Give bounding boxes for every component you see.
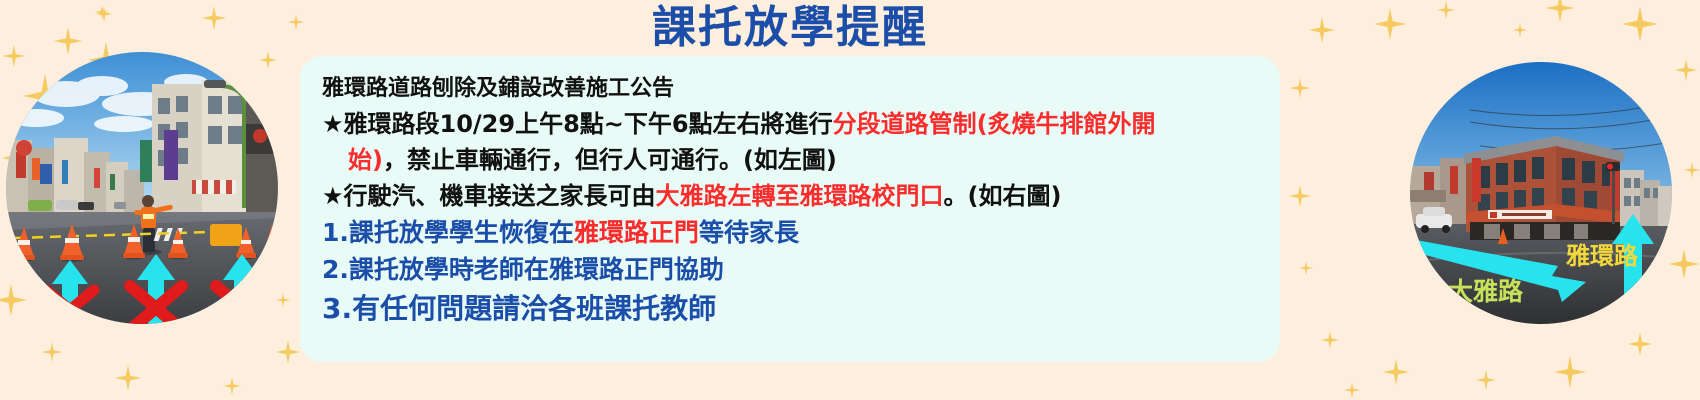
item-2-number: 2. xyxy=(322,255,349,284)
item-3-number: 3. xyxy=(322,292,352,325)
announcement-card: 雅環路道路刨除及鋪設改善施工公告 ★雅環路段10/29上午8點~下午6點左右將進… xyxy=(300,56,1280,362)
announcement-item-2: 2.課托放學時老師在雅環路正門協助 xyxy=(322,251,1262,288)
label-da-ya-road: 大雅路 xyxy=(1448,277,1524,306)
right-photo-intersection: 大雅路 雅環路 xyxy=(1410,62,1672,324)
bullet-1-cont-highlight: 始) xyxy=(348,146,383,174)
item-1-highlight: 雅環路正門 xyxy=(574,218,699,247)
item-1-suffix: 等待家長 xyxy=(699,218,799,247)
bullet-1-cont-rest: ，禁止車輛通行，但行人可通行。(如左圖) xyxy=(383,146,837,174)
announcement-bullet-1: ★雅環路段10/29上午8點~下午6點左右將進行分段道路管制(炙燒牛排館外開 xyxy=(322,106,1262,142)
heading-text: 雅環路道路刨除及鋪設改善施工公告 xyxy=(322,76,674,101)
bullet-2-suffix: 。(如右圖) xyxy=(944,182,1062,210)
bullet-2-prefix: ★行駛汽、機車接送之家長可由 xyxy=(322,182,656,210)
bullet-1-highlight: 分段道路管制(炙燒牛排館外開 xyxy=(833,110,1156,138)
left-photo-construction-zone xyxy=(6,52,278,324)
item-1-number: 1. xyxy=(322,218,349,247)
announcement-bullet-1-cont: 始)，禁止車輛通行，但行人可通行。(如左圖) xyxy=(322,142,1262,178)
bullet-2-highlight: 大雅路左轉至雅環路校門口 xyxy=(656,182,944,210)
page-title: 課托放學提醒 xyxy=(300,2,1280,54)
announcement-item-1: 1.課托放學學生恢復在雅環路正門等待家長 xyxy=(322,214,1262,251)
announcement-item-3: 3.有任何問題請洽各班課托教師 xyxy=(322,288,1262,330)
item-1-prefix: 課托放學學生恢復在 xyxy=(349,218,574,247)
announcement-heading: 雅環路道路刨除及鋪設改善施工公告 xyxy=(322,72,1262,106)
announcement-bullet-2: ★行駛汽、機車接送之家長可由大雅路左轉至雅環路校門口。(如右圖) xyxy=(322,178,1262,214)
item-3-prefix: 有任何問題請洽各班課托教師 xyxy=(352,292,716,325)
bullet-1-prefix: ★雅環路段10/29上午8點~下午6點左右將進行 xyxy=(322,110,833,138)
item-2-prefix: 課托放學時老師在雅環路正門協助 xyxy=(349,255,724,284)
label-ya-huan-road: 雅環路 xyxy=(1566,242,1639,270)
